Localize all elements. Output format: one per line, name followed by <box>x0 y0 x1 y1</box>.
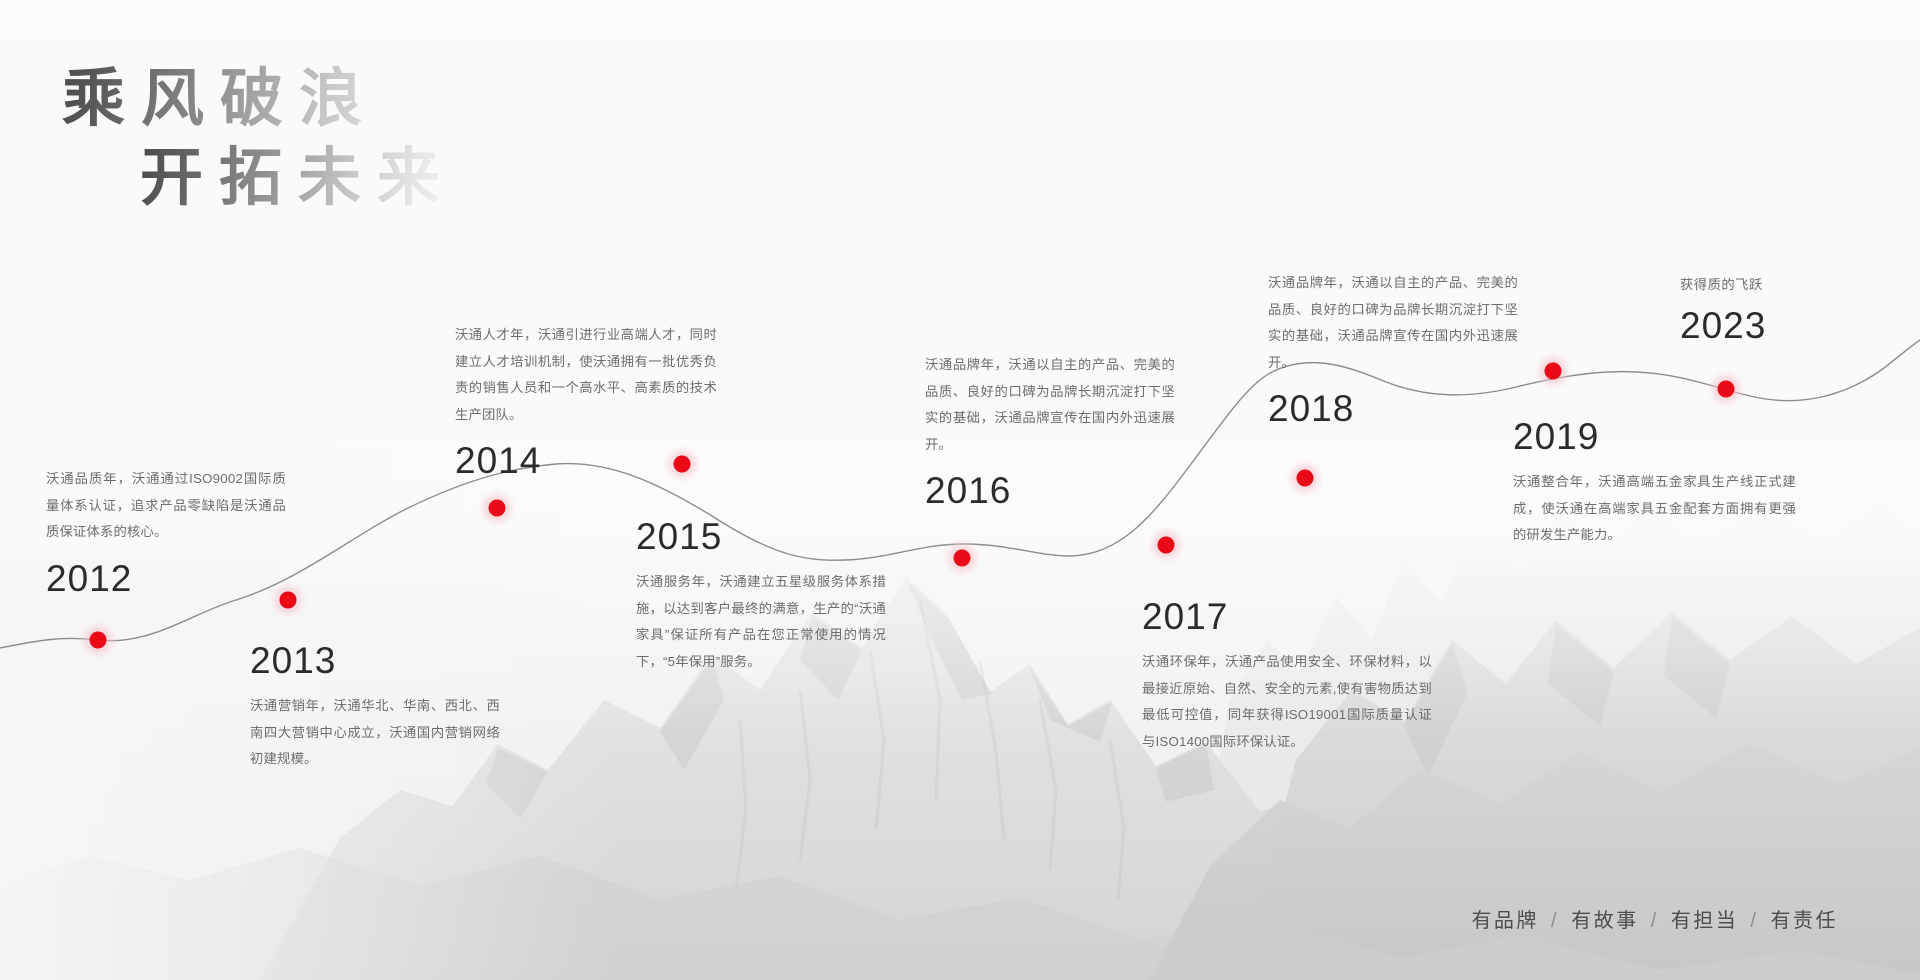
milestone-2016-description: 沃通品牌年，沃通以自主的产品、完美的品质、良好的口碑为品牌长期沉淀打下坚实的基础… <box>925 352 1175 458</box>
milestone-2018-year: 2018 <box>1268 390 1518 427</box>
timeline-dot-2019[interactable] <box>1533 351 1573 391</box>
headline-line-2: 开拓未来 <box>140 141 456 214</box>
tagline-separator-2: / <box>1647 910 1663 932</box>
milestone-2016: 沃通品牌年，沃通以自主的产品、完美的品质、良好的口碑为品牌长期沉淀打下坚实的基础… <box>925 352 1175 509</box>
timeline-infographic: 乘风破浪 开拓未来 <box>0 0 1920 980</box>
milestone-2013-year: 2013 <box>250 642 500 679</box>
milestone-2023-description: 获得质的飞跃 <box>1680 272 1900 297</box>
milestone-2018: 沃通品牌年，沃通以自主的产品、完美的品质、良好的口碑为品牌长期沉淀打下坚实的基础… <box>1268 270 1518 427</box>
milestone-2023-year: 2023 <box>1680 307 1900 344</box>
milestone-2017: 2017 沃通环保年，沃通产品使用安全、环保材料，以最接近原始、自然、安全的元素… <box>1142 598 1432 755</box>
milestone-2013: 2013 沃通营销年，沃通华北、华南、西北、西南四大营销中心成立，沃通国内营销网… <box>250 642 500 773</box>
milestone-2019-year: 2019 <box>1513 418 1796 455</box>
timeline-dot-2023[interactable] <box>1706 369 1746 409</box>
milestone-2014-year: 2014 <box>455 442 717 479</box>
milestone-2014: 沃通人才年，沃通引进行业高端人才，同时建立人才培训机制，使沃通拥有一批优秀负责的… <box>455 322 717 479</box>
milestone-2015-description: 沃通服务年，沃通建立五星级服务体系措施，以达到客户最终的满意，生产的“沃通家具”… <box>636 569 886 675</box>
timeline-dot-2016[interactable] <box>942 538 982 578</box>
headline: 乘风破浪 开拓未来 <box>62 62 456 214</box>
milestone-2016-year: 2016 <box>925 472 1175 509</box>
timeline-dot-2014[interactable] <box>477 488 517 528</box>
milestone-2019: 2019 沃通整合年，沃通高端五金家具生产线正式建成，使沃通在高端家具五金配套方… <box>1513 418 1796 549</box>
milestone-2015-year: 2015 <box>636 518 886 555</box>
milestone-2017-year: 2017 <box>1142 598 1432 635</box>
near-ridge-shading <box>1404 616 1730 776</box>
tagline-separator-1: / <box>1547 910 1563 932</box>
milestone-2018-description: 沃通品牌年，沃通以自主的产品、完美的品质、良好的口碑为品牌长期沉淀打下坚实的基础… <box>1268 270 1518 376</box>
headline-line-1: 乘风破浪 <box>62 62 456 135</box>
tagline-separator-3: / <box>1746 910 1762 932</box>
milestone-2023: 获得质的飞跃 2023 <box>1680 272 1900 344</box>
timeline-dot-2012[interactable] <box>78 620 118 660</box>
tagline-item-4: 有责任 <box>1771 910 1839 932</box>
timeline-dot-2017[interactable] <box>1146 525 1186 565</box>
tagline-item-3: 有担当 <box>1671 910 1739 932</box>
timeline-dot-2018[interactable] <box>1285 458 1325 498</box>
milestone-2012-description: 沃通品质年，沃通通过ISO9002国际质量体系认证，追求产品零缺陷是沃通品质保证… <box>46 466 286 546</box>
tagline-item-1: 有品牌 <box>1471 910 1539 932</box>
milestone-2019-description: 沃通整合年，沃通高端五金家具生产线正式建成，使沃通在高端家具五金配套方面拥有更强… <box>1513 469 1796 549</box>
forest-band <box>1150 744 1920 980</box>
milestone-2013-description: 沃通营销年，沃通华北、华南、西北、西南四大营销中心成立，沃通国内营销网络初建规模… <box>250 693 500 773</box>
milestone-2017-description: 沃通环保年，沃通产品使用安全、环保材料，以最接近原始、自然、安全的元素,使有害物… <box>1142 649 1432 755</box>
milestone-2014-description: 沃通人才年，沃通引进行业高端人才，同时建立人才培训机制，使沃通拥有一批优秀负责的… <box>455 322 717 428</box>
milestone-2012: 沃通品质年，沃通通过ISO9002国际质量体系认证，追求产品零缺陷是沃通品质保证… <box>46 466 286 597</box>
tagline-item-2: 有故事 <box>1571 910 1639 932</box>
brand-tagline: 有品牌 / 有故事 / 有担当 / 有责任 <box>1471 904 1838 933</box>
milestone-2012-year: 2012 <box>46 560 286 597</box>
milestone-2015: 2015 沃通服务年，沃通建立五星级服务体系措施，以达到客户最终的满意，生产的“… <box>636 518 886 675</box>
